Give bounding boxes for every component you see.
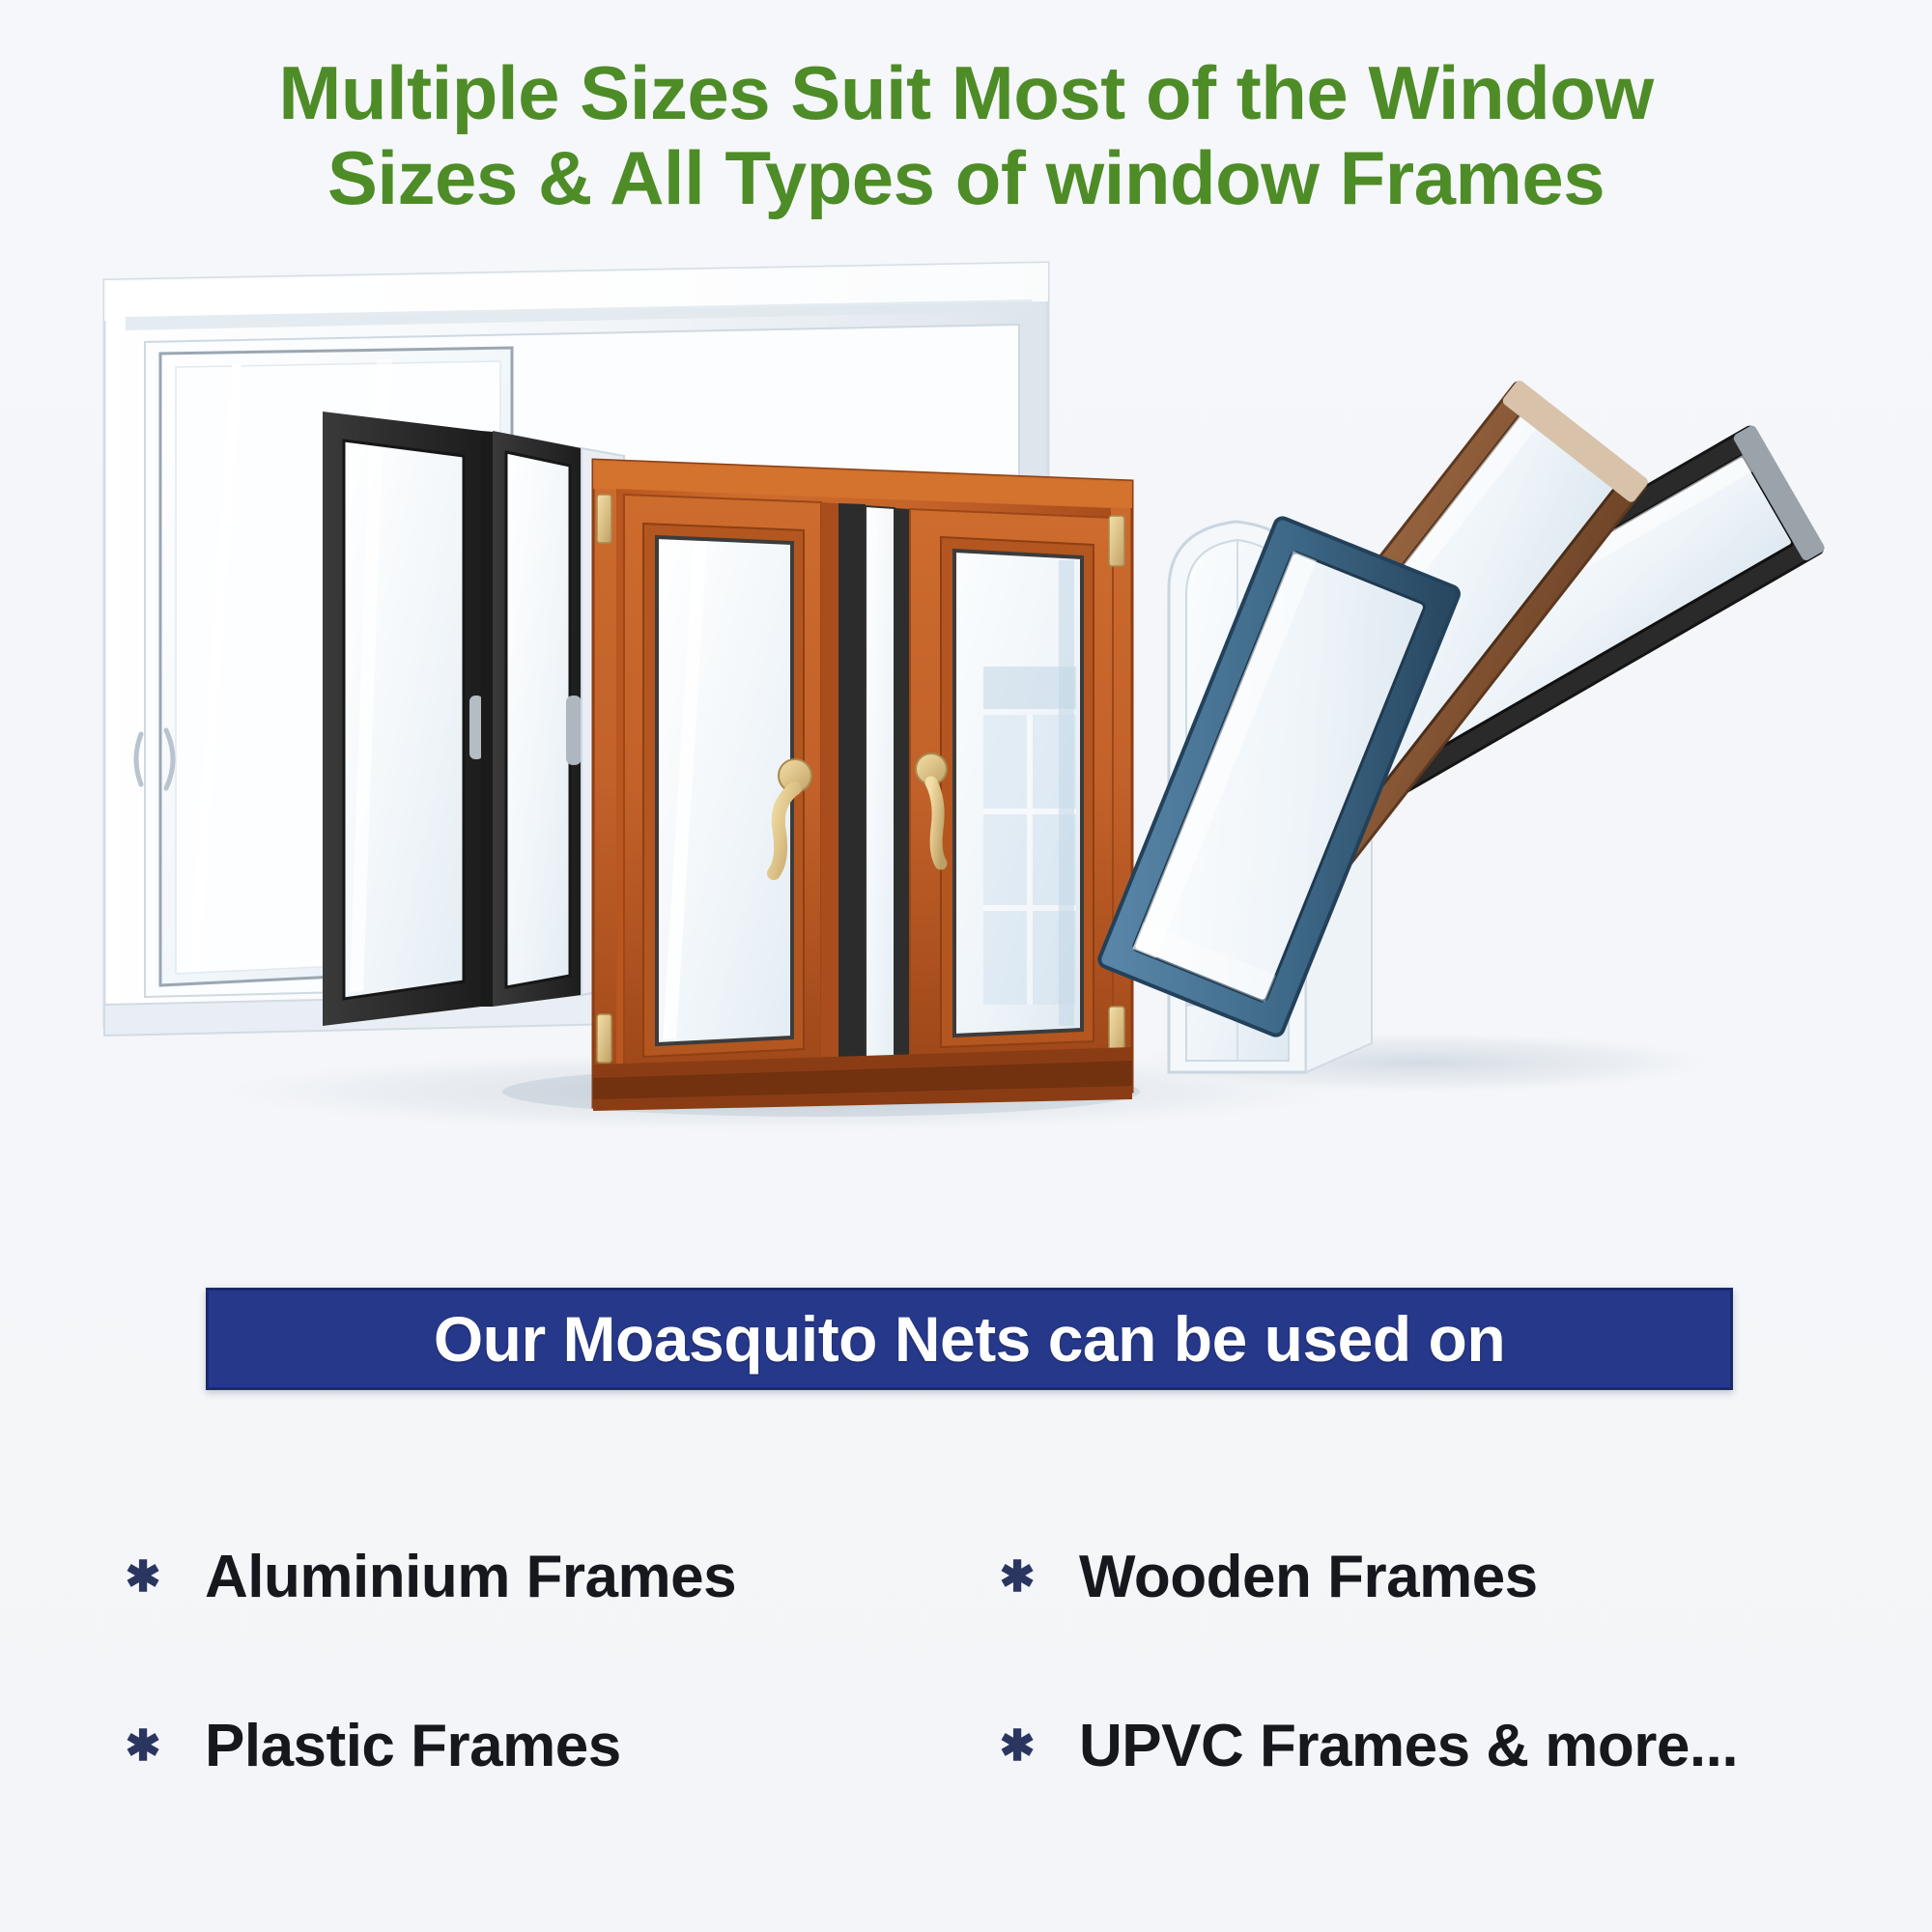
asterisk-icon: ✱	[116, 1556, 170, 1599]
page-title: Multiple Sizes Suit Most of the Window S…	[0, 50, 1932, 220]
wooden-casement-window	[502, 460, 1140, 1117]
bifold-handle-b	[566, 696, 582, 765]
hinge-bottom-left	[597, 1014, 611, 1063]
hinge-top-right	[1109, 516, 1124, 566]
list-item-label: Wooden Frames	[1044, 1543, 1538, 1611]
bifold-handle-a	[469, 696, 483, 759]
wooden-center-mullion	[821, 502, 910, 1074]
banner-label: Our Moasquito Nets can be used on	[434, 1302, 1505, 1376]
hinge-top-left	[597, 495, 611, 543]
list-item-upvc-frames: ✱ UPVC Frames & more...	[990, 1662, 1845, 1831]
wooden-sash-left	[624, 495, 821, 1082]
asterisk-icon: ✱	[116, 1725, 170, 1768]
asterisk-icon: ✱	[990, 1725, 1044, 1768]
list-item-wooden-frames: ✱ Wooden Frames	[990, 1492, 1845, 1662]
wooden-sash-right	[910, 509, 1113, 1070]
headline-line-2: Sizes & All Types of window Frames	[0, 135, 1932, 220]
list-item-label: Aluminium Frames	[170, 1543, 736, 1611]
frame-types-list: ✱ Aluminium Frames ✱ Wooden Frames ✱ Pla…	[116, 1492, 1845, 1831]
list-item-label: Plastic Frames	[170, 1712, 621, 1780]
list-item-label: UPVC Frames & more...	[1044, 1712, 1738, 1780]
headline-line-1: Multiple Sizes Suit Most of the Window	[0, 50, 1932, 135]
window-frames-illustration	[87, 241, 1874, 1159]
list-item-plastic-frames: ✱ Plastic Frames	[116, 1662, 990, 1831]
banner-moasquito-nets: Our Moasquito Nets can be used on	[206, 1288, 1733, 1390]
asterisk-icon: ✱	[990, 1556, 1044, 1599]
list-item-aluminium-frames: ✱ Aluminium Frames	[116, 1492, 990, 1662]
black-aluminium-bifold-window	[323, 412, 624, 1026]
window-frames-product-image	[87, 241, 1874, 1159]
